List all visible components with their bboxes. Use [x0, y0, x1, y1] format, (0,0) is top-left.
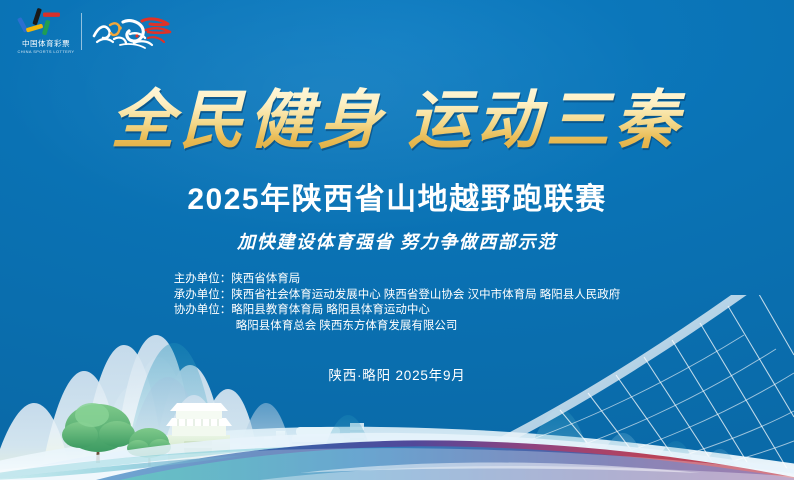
event-logo-icon [90, 12, 174, 54]
organizer-row: 主办单位：陕西省体育局 [174, 272, 621, 288]
organizer-label: 主办单位： [174, 272, 232, 288]
china-sports-lottery-logo: 中国体育彩票 CHINA SPORTS LOTTERY [14, 6, 78, 62]
header-divider [81, 13, 82, 50]
lottery-name-cn: 中国体育彩票 [14, 39, 78, 48]
lueyang-event-calligraphy-logo [90, 12, 174, 54]
scenery-illustration [0, 295, 794, 480]
lottery-mark-icon [14, 6, 78, 40]
event-subtitle: 2025年陕西省山地越野跑联赛 [0, 180, 794, 220]
organizer-value: 陕西省体育局 [231, 273, 300, 285]
lottery-name-en: CHINA SPORTS LOTTERY [13, 49, 78, 55]
poster-header: 中国体育彩票 CHINA SPORTS LOTTERY [0, 0, 794, 68]
event-slogan: 加快建设体育强省 努力争做西部示范 [0, 228, 794, 256]
main-title: 全民健身 运动三秦 [0, 84, 794, 158]
poster-canvas: 中国体育彩票 CHINA SPORTS LOTTERY [0, 0, 794, 480]
